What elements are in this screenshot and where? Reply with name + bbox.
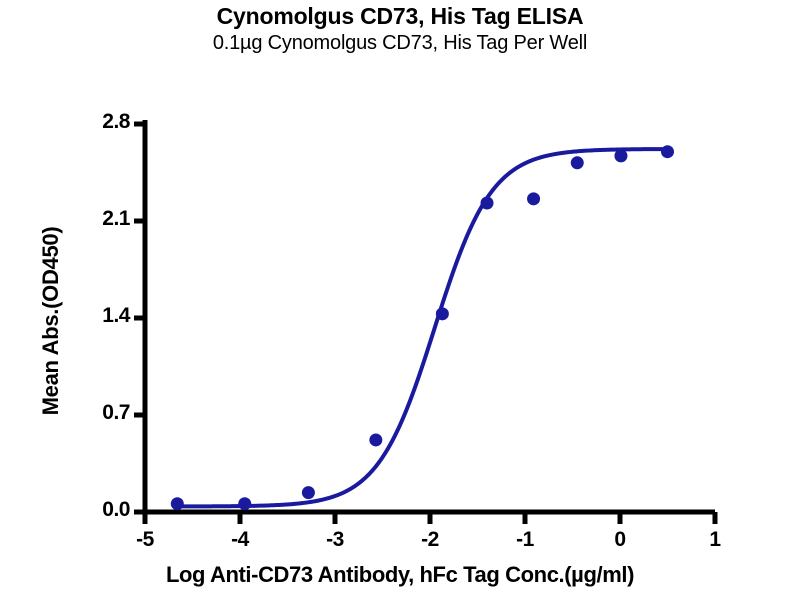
data-point — [171, 497, 184, 510]
data-point — [661, 145, 674, 158]
tick-marks — [134, 124, 715, 524]
data-point — [614, 149, 627, 162]
data-point — [571, 156, 584, 169]
data-point — [481, 196, 494, 209]
data-point-group — [171, 145, 674, 510]
plot-area — [0, 0, 800, 600]
data-point — [302, 486, 315, 499]
data-point — [369, 433, 382, 446]
elisa-chart-figure: Cynomolgus CD73, His Tag ELISA 0.1µg Cyn… — [0, 0, 800, 600]
axis-lines — [142, 120, 715, 512]
data-point — [238, 497, 251, 510]
data-point — [527, 192, 540, 205]
data-point — [436, 307, 449, 320]
dose-response-fit-curve — [177, 149, 667, 506]
